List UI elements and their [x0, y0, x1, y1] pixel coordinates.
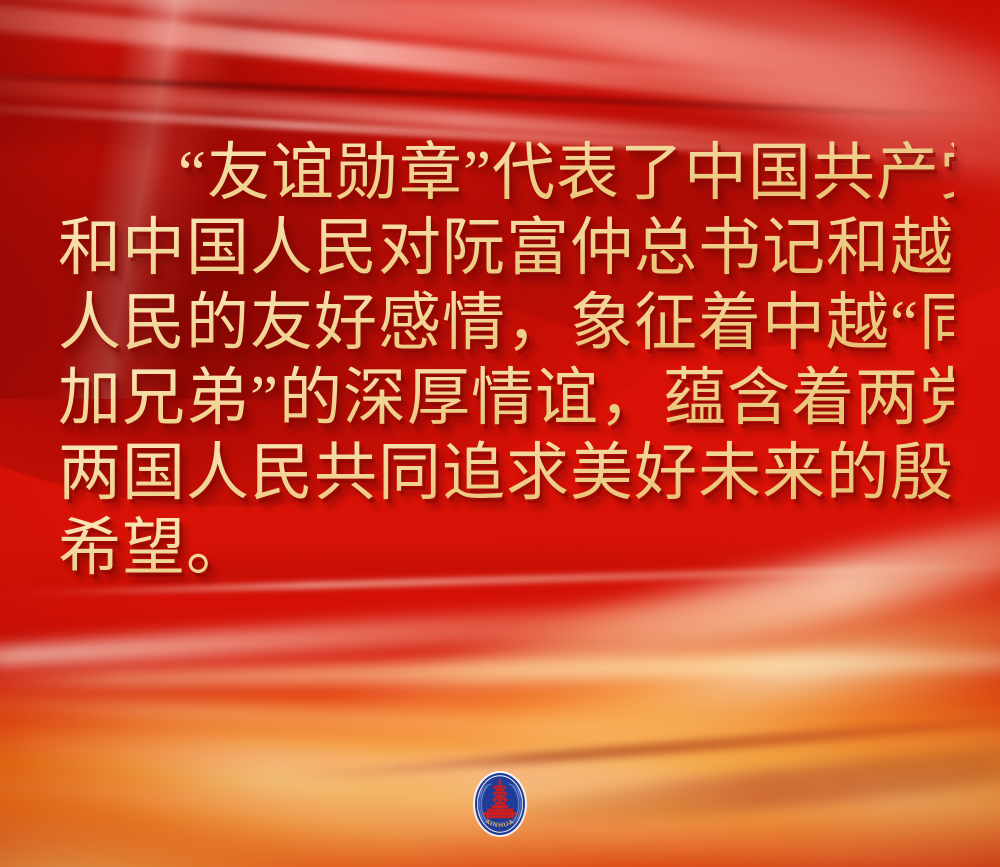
quote-line-3: 人民的友好感情，象征着中越“同志	[58, 286, 954, 361]
quote-line-2: 和中国人民对阮富仲总书记和越南	[58, 211, 954, 286]
xinhua-logo: XINHUA	[472, 770, 528, 838]
quote-card: “友谊勋章”代表了中国共产党 和中国人民对阮富仲总书记和越南 人民的友好感情，象…	[0, 0, 1000, 867]
quote-line-1: “友谊勋章”代表了中国共产党	[58, 136, 954, 211]
quote-line-6: 希望。	[58, 511, 954, 586]
quote-text-block: “友谊勋章”代表了中国共产党 和中国人民对阮富仲总书记和越南 人民的友好感情，象…	[58, 136, 954, 586]
quote-line-5: 两国人民共同追求美好未来的殷切	[58, 436, 954, 511]
quote-line-4: 加兄弟”的深厚情谊，蕴含着两党和	[58, 361, 954, 436]
